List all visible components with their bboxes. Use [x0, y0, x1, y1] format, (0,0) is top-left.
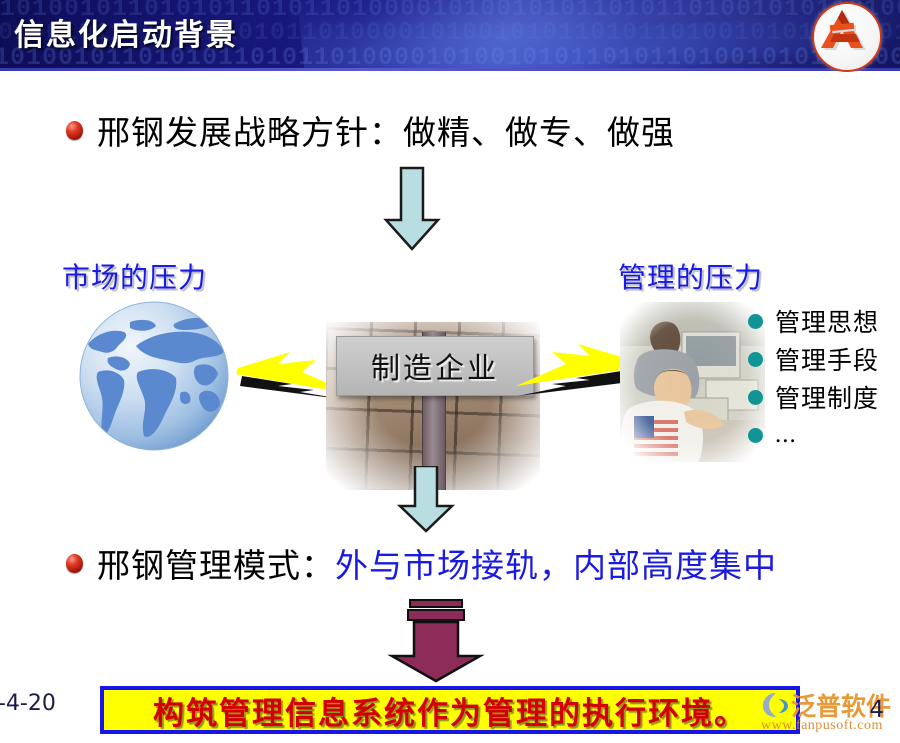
list-item: 管理思想: [748, 302, 898, 340]
date-stamp: 3-4-20: [0, 691, 56, 716]
list-item: 管理手段: [748, 340, 898, 378]
page-title: 信息化启动背景: [14, 10, 238, 54]
list-item: ...: [748, 416, 898, 454]
list-item-label: 管理手段: [775, 341, 879, 377]
list-item-label: 管理制度: [775, 379, 879, 415]
page-number: 4: [869, 697, 884, 723]
management-mode-text: 邢钢管理模式：外与市场接轨，内部高度集中: [97, 539, 777, 587]
office-workers-photo: [620, 302, 765, 462]
company-logo-icon: [812, 2, 882, 72]
list-item-label: 管理思想: [775, 303, 879, 339]
conclusion-text: 构筑管理信息系统作为管理的执行环境。: [153, 688, 747, 733]
strategy-text: 邢钢发展战略方针：做精、做专、做强: [97, 106, 675, 154]
globe-icon: [78, 300, 230, 452]
teal-dot-bullet-icon: [748, 314, 763, 329]
red-sphere-bullet-icon: [66, 554, 83, 573]
strategy-bullet-row: 邢钢发展战略方针：做精、做专、做强: [66, 106, 675, 154]
management-pressure-label: 管理的压力: [618, 256, 763, 296]
enterprise-sign-label: 制造企业: [371, 345, 499, 387]
management-mode-bullet-row: 邢钢管理模式：外与市场接轨，内部高度集中: [66, 539, 777, 587]
header-divider-rule: [0, 68, 900, 71]
management-mode-prefix: 邢钢管理模式：: [97, 549, 335, 585]
conclusion-callout-box: 构筑管理信息系统作为管理的执行环境。: [100, 686, 800, 734]
lightning-bolt-right-icon: [506, 326, 634, 400]
down-arrow-icon: [396, 466, 456, 534]
header-light-swoosh: [296, 0, 900, 70]
down-arrow-icon: [382, 166, 442, 252]
teal-dot-bullet-icon: [748, 428, 763, 443]
down-arrow-highlight-icon: [384, 598, 488, 684]
management-points-list: 管理思想 管理手段 管理制度 ...: [748, 302, 898, 454]
list-item-label: ...: [775, 421, 797, 449]
enterprise-sign: 制造企业: [336, 336, 534, 396]
red-sphere-bullet-icon: [66, 121, 83, 140]
teal-dot-bullet-icon: [748, 390, 763, 405]
teal-dot-bullet-icon: [748, 352, 763, 367]
management-mode-highlight: 外与市场接轨，内部高度集中: [335, 549, 777, 585]
list-item: 管理制度: [748, 378, 898, 416]
market-pressure-label: 市场的压力: [62, 256, 207, 296]
